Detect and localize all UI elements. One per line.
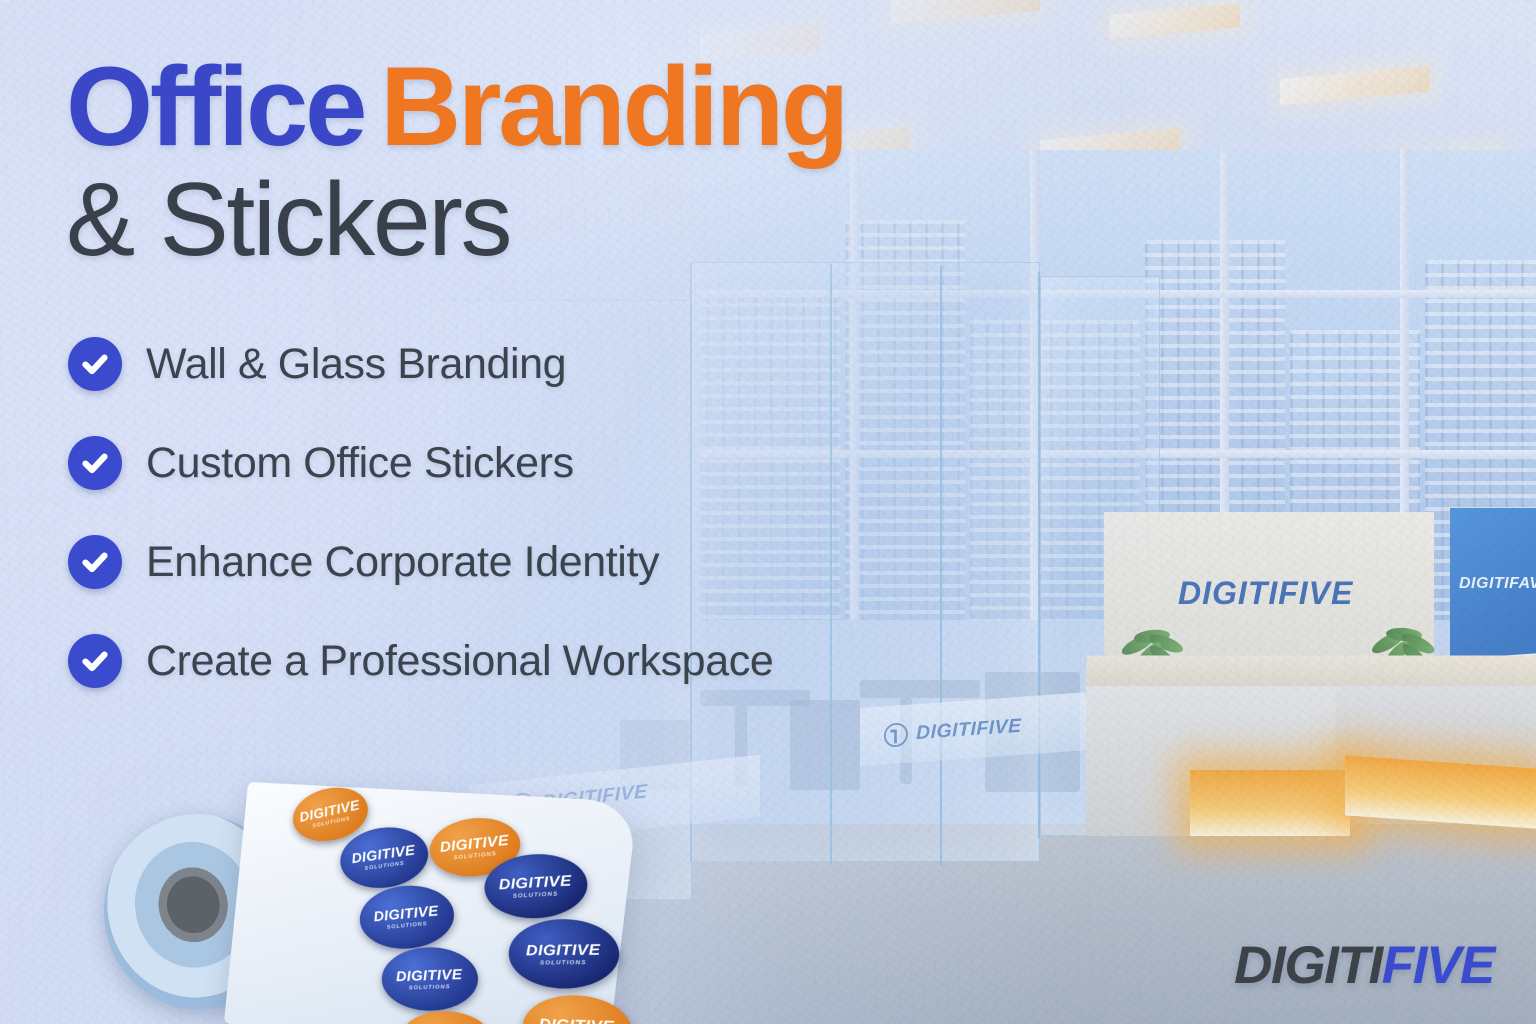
bullet-label: Create a Professional Workspace [146,637,773,686]
bullet-item: Wall & Glass Branding [68,337,773,391]
check-circle-icon [68,634,122,688]
headline-word-office: Office [66,44,364,169]
bullet-item: Create a Professional Workspace [68,634,773,688]
brand-logo: DIGITIFIVE [1234,935,1494,996]
feature-bullet-list: Wall & Glass Branding Custom Office Stic… [68,337,773,733]
headline-line-1: OfficeBranding [66,52,1066,163]
brand-logo-part-five: FIVE [1382,936,1494,995]
headline-word-branding: Branding [380,44,846,169]
headline-block: OfficeBranding & Stickers [66,52,1066,272]
check-circle-icon [68,337,122,391]
bullet-item: Enhance Corporate Identity [68,535,773,589]
bullet-label: Wall & Glass Branding [146,340,566,389]
check-circle-icon [68,436,122,490]
bullet-item: Custom Office Stickers [68,436,773,490]
check-circle-icon [68,535,122,589]
headline-line-2: & Stickers [66,169,1066,272]
banner-content: OfficeBranding & Stickers Wall & Glass B… [0,0,1536,1024]
office-branding-banner: DIGITIFIVE DIGITIFIVE DIGITIFAVE DIGITIF… [0,0,1536,1024]
bullet-label: Enhance Corporate Identity [146,538,659,587]
bullet-label: Custom Office Stickers [146,439,574,488]
brand-logo-part-digiti: DIGITI [1234,936,1382,995]
